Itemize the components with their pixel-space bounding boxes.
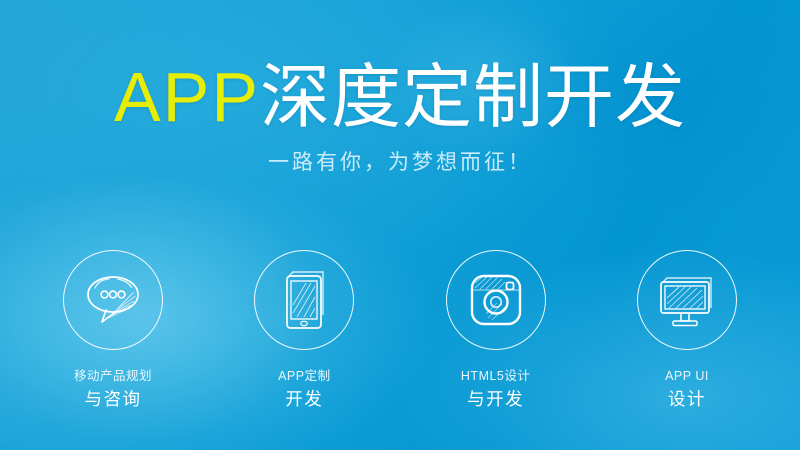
page-title: APP深度定制开发 xyxy=(0,58,800,136)
feature-labels: APP定制 开发 xyxy=(278,368,331,411)
feature-icon-circle xyxy=(254,250,354,350)
feature-icon-circle xyxy=(63,250,163,350)
title-highlight: APP xyxy=(114,58,260,136)
feature-list: 移动产品规划 与咨询 xyxy=(20,250,780,411)
feature-label-bottom: 开发 xyxy=(278,388,331,411)
feature-label-top: APP定制 xyxy=(278,368,331,385)
feature-item-app-development[interactable]: APP定制 开发 xyxy=(211,250,397,411)
camera-icon xyxy=(466,270,526,330)
feature-item-consulting[interactable]: 移动产品规划 与咨询 xyxy=(20,250,206,411)
speech-bubble-icon xyxy=(82,272,144,328)
feature-label-bottom: 设计 xyxy=(665,388,709,411)
headings-block: APP深度定制开发 一路有你，为梦想而征！ xyxy=(0,0,800,177)
feature-label-top: APP UI xyxy=(665,368,709,385)
feature-label-top: HTML5设计 xyxy=(461,368,530,385)
feature-labels: APP UI 设计 xyxy=(665,368,709,411)
page-subtitle: 一路有你，为梦想而征！ xyxy=(0,149,800,177)
feature-label-top: 移动产品规划 xyxy=(74,368,152,385)
promo-banner: APP深度定制开发 一路有你，为梦想而征！ xyxy=(0,0,800,450)
monitor-icon xyxy=(655,271,719,329)
title-rest: 深度定制开发 xyxy=(260,58,686,136)
feature-label-bottom: 与开发 xyxy=(461,388,530,411)
feature-labels: HTML5设计 与开发 xyxy=(461,368,530,411)
tablet-icon xyxy=(276,269,332,331)
feature-icon-circle xyxy=(637,250,737,350)
feature-label-bottom: 与咨询 xyxy=(74,388,152,411)
feature-icon-circle xyxy=(446,250,546,350)
feature-item-app-ui[interactable]: APP UI 设计 xyxy=(594,250,780,411)
feature-labels: 移动产品规划 与咨询 xyxy=(74,368,152,411)
feature-item-html5[interactable]: HTML5设计 与开发 xyxy=(403,250,589,411)
